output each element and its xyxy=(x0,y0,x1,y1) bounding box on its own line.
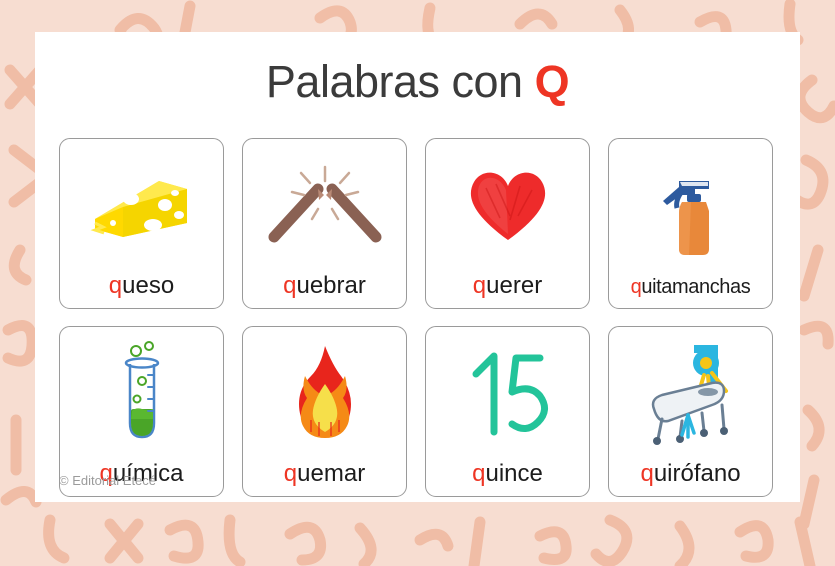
test-tube-icon xyxy=(60,327,223,461)
word-lead-letter: q xyxy=(283,272,296,299)
number-fifteen-icon xyxy=(426,327,589,461)
word-card-label: quirófano xyxy=(640,461,740,490)
broken-stick-icon xyxy=(243,139,406,273)
word-card-quirofano[interactable]: quirófano xyxy=(608,326,773,497)
word-lead-letter: q xyxy=(473,272,486,299)
page-title-prefix: Palabras con xyxy=(266,56,535,107)
word-card-label: quemar xyxy=(284,461,365,490)
word-rest: uerer xyxy=(486,272,542,299)
spray-bottle-icon xyxy=(609,139,772,277)
word-lead-letter: q xyxy=(472,460,485,487)
word-rest: uince xyxy=(485,460,542,487)
word-lead-letter: q xyxy=(284,460,297,487)
heart-icon xyxy=(426,139,589,273)
word-card-quebrar[interactable]: quebrar xyxy=(242,138,407,309)
word-rest: uemar xyxy=(297,460,365,487)
page-title: Palabras con Q xyxy=(35,32,800,108)
word-card-label: quitamanchas xyxy=(631,277,751,302)
flame-icon xyxy=(243,327,406,461)
word-rest: uitamanchas xyxy=(641,276,750,298)
word-card-quitamanchas[interactable]: quitamanchas xyxy=(608,138,773,309)
page-title-accent-letter: Q xyxy=(535,56,570,107)
word-card-label: quebrar xyxy=(283,273,366,302)
worksheet-sheet: Palabras con Q queso xyxy=(35,32,800,502)
footer-credit: © Editorial Etecé xyxy=(59,473,156,488)
operating-table-icon xyxy=(609,327,772,461)
word-lead-letter: q xyxy=(640,460,653,487)
cheese-wedge-icon xyxy=(60,139,223,273)
word-card-label: queso xyxy=(109,273,174,302)
word-card-querer[interactable]: querer xyxy=(425,138,590,309)
word-lead-letter: q xyxy=(631,276,642,298)
word-rest: uebrar xyxy=(296,272,365,299)
word-card-grid: queso xyxy=(59,138,776,497)
word-card-quimica[interactable]: química xyxy=(59,326,224,497)
word-rest: uirófano xyxy=(654,460,741,487)
word-card-quince[interactable]: quince xyxy=(425,326,590,497)
word-card-label: querer xyxy=(473,273,542,302)
word-rest: ueso xyxy=(122,272,174,299)
word-lead-letter: q xyxy=(109,272,122,299)
word-card-queso[interactable]: queso xyxy=(59,138,224,309)
word-card-label: quince xyxy=(472,461,543,490)
word-card-quemar[interactable]: quemar xyxy=(242,326,407,497)
